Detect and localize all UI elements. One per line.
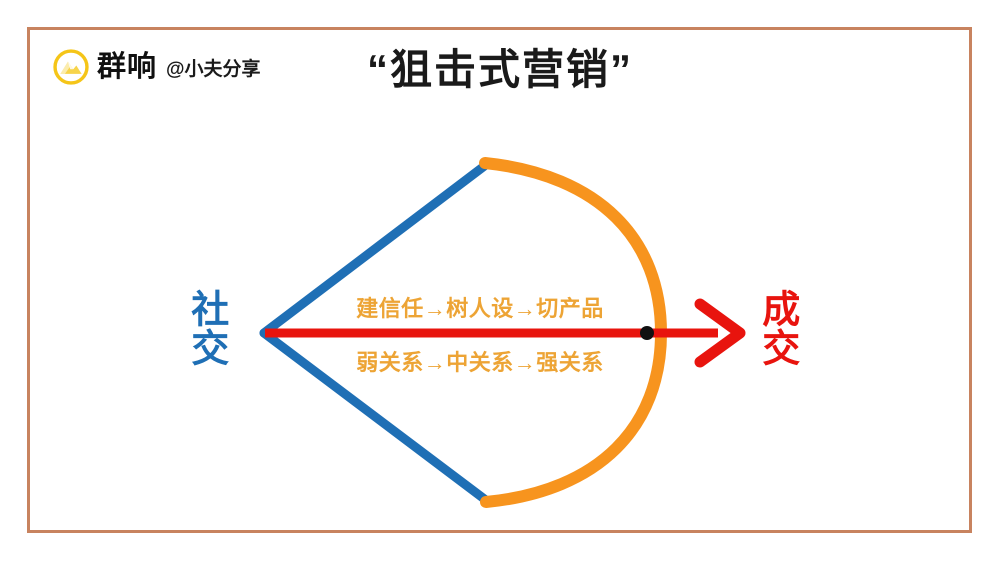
label-deal: 成交: [757, 289, 796, 375]
funnel-flow-diagram: [0, 0, 1000, 562]
slide-canvas: 群响 @小夫分享 “狙击式营销” 社交 成交 建信任→树人设→切产品 弱关系→中…: [0, 0, 1000, 562]
label-deal-text: 成交: [757, 289, 796, 367]
label-social-text: 社交: [186, 289, 225, 367]
flow-line-trust: 建信任→树人设→切产品: [280, 291, 680, 323]
label-social: 社交: [186, 289, 225, 375]
intersection-node: [640, 326, 654, 340]
flow-line-relationship: 弱关系→中关系→强关系: [280, 345, 680, 377]
